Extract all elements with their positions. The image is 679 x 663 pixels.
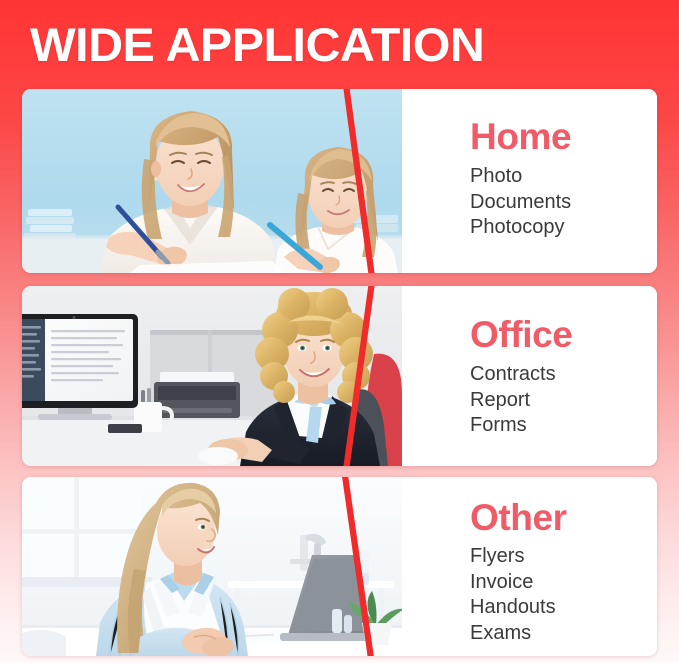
application-card-office: Office Contracts Report Forms: [22, 286, 657, 466]
list-item: Flyers: [470, 544, 645, 570]
office-desk-illustration: [22, 286, 402, 466]
card-content-other: Other Flyers Invoice Handouts Exams: [470, 477, 645, 656]
page-title: WIDE APPLICATION: [30, 16, 669, 74]
card-photo-office: [22, 286, 402, 466]
list-item: Contracts: [470, 362, 645, 388]
home-study-illustration: [22, 89, 402, 273]
card-photo-home: [22, 89, 402, 273]
list-item: Photo: [470, 164, 645, 190]
card-photo-other: [22, 477, 402, 656]
lab-laptop-illustration: [22, 477, 402, 656]
card-title-other: Other: [470, 498, 645, 538]
card-item-list-office: Contracts Report Forms: [470, 362, 645, 439]
list-item: Photocopy: [470, 215, 645, 241]
card-content-home: Home Photo Documents Photocopy: [470, 89, 645, 273]
card-title-home: Home: [470, 117, 645, 157]
list-item: Handouts: [470, 595, 645, 621]
application-card-other: Other Flyers Invoice Handouts Exams: [22, 477, 657, 656]
card-content-office: Office Contracts Report Forms: [470, 286, 645, 466]
card-item-list-home: Photo Documents Photocopy: [470, 164, 645, 241]
wide-application-poster: WIDE APPLICATION: [0, 0, 679, 663]
list-item: Documents: [470, 190, 645, 216]
list-item: Exams: [470, 621, 645, 647]
card-item-list-other: Flyers Invoice Handouts Exams: [470, 544, 645, 646]
application-card-home: Home Photo Documents Photocopy: [22, 89, 657, 273]
list-item: Invoice: [470, 570, 645, 596]
card-title-office: Office: [470, 315, 645, 355]
list-item: Report: [470, 388, 645, 414]
list-item: Forms: [470, 413, 645, 439]
